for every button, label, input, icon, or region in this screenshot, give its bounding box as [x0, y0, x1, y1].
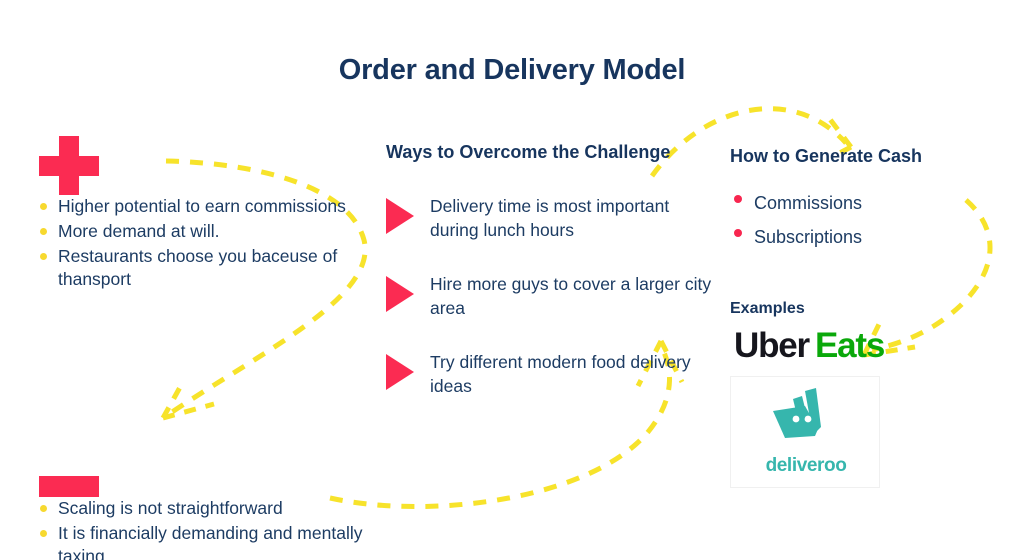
- uber-eats-logo: UberEats: [734, 326, 1020, 366]
- pros-item-text: More demand at will.: [58, 221, 219, 241]
- bullet-dot-icon: [40, 253, 47, 260]
- list-item: Scaling is not straightforward: [36, 497, 366, 520]
- pros-item-text: Restaurants choose you baceuse of thansp…: [58, 246, 337, 289]
- right-column-heading: How to Generate Cash: [730, 146, 1020, 167]
- minus-icon: [39, 476, 99, 497]
- cash-list: Commissions Subscriptions: [730, 187, 1020, 253]
- list-item: Higher potential to earn commissions: [36, 195, 366, 218]
- bullet-dot-icon: [40, 228, 47, 235]
- list-item: It is financially demanding and mentally…: [36, 522, 366, 560]
- uber-eats-word-eats: Eats: [815, 326, 884, 365]
- middle-column: Ways to Overcome the Challenge Delivery …: [386, 140, 716, 426]
- page-title: Order and Delivery Model: [0, 54, 1024, 87]
- list-item: Restaurants choose you baceuse of thansp…: [36, 245, 366, 291]
- pros-item-text: Higher potential to earn commissions: [58, 196, 346, 216]
- overcome-step: Delivery time is most important during l…: [386, 192, 716, 242]
- deliveroo-wordmark: deliveroo: [731, 455, 881, 477]
- cons-list: Scaling is not straightforward It is fin…: [36, 497, 366, 560]
- plus-icon: [39, 136, 99, 195]
- deliveroo-kangaroo-icon: [769, 387, 841, 449]
- examples-heading: Examples: [730, 300, 1020, 318]
- overcome-step-text: Hire more guys to cover a larger city ar…: [430, 270, 716, 320]
- uber-eats-word-uber: Uber: [734, 326, 809, 365]
- overcome-step: Hire more guys to cover a larger city ar…: [386, 270, 716, 320]
- right-column: How to Generate Cash Commissions Subscri…: [730, 146, 1020, 488]
- overcome-step: Try different modern food delivery ideas: [386, 348, 716, 398]
- cons-item-text: It is financially demanding and mentally…: [58, 523, 362, 560]
- left-column: Higher potential to earn commissions Mor…: [36, 136, 366, 560]
- overcome-step-text: Try different modern food delivery ideas: [430, 348, 716, 398]
- pros-list: Higher potential to earn commissions Mor…: [36, 195, 366, 291]
- list-item: More demand at will.: [36, 220, 366, 243]
- infographic-canvas: Order and Delivery Model Higher potentia…: [0, 0, 1024, 560]
- cons-item-text: Scaling is not straightforward: [58, 498, 283, 518]
- deliveroo-logo-card: deliveroo: [730, 376, 880, 488]
- bullet-dot-icon: [40, 505, 47, 512]
- cash-item-text: Subscriptions: [754, 227, 862, 247]
- bullet-dot-icon: [40, 530, 47, 537]
- bullet-dot-icon: [734, 195, 742, 203]
- bullet-dot-icon: [734, 229, 742, 237]
- triangle-marker-icon: [386, 354, 414, 390]
- cash-item-text: Commissions: [754, 193, 862, 213]
- minus-icon-wrapper: [36, 476, 366, 497]
- list-item: Subscriptions: [730, 221, 1020, 253]
- list-item: Commissions: [730, 187, 1020, 219]
- triangle-marker-icon: [386, 198, 414, 234]
- triangle-marker-icon: [386, 276, 414, 312]
- bullet-dot-icon: [40, 203, 47, 210]
- overcome-step-text: Delivery time is most important during l…: [430, 192, 716, 242]
- middle-column-heading: Ways to Overcome the Challenge: [386, 140, 716, 164]
